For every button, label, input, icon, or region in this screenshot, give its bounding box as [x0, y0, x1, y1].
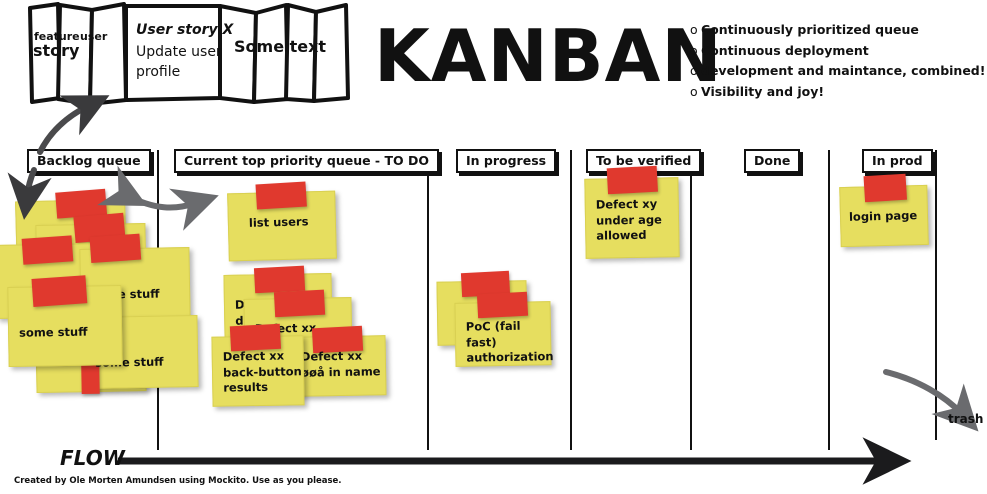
- sticky-note[interactable]: some stuff: [7, 285, 122, 367]
- list-item-label: Continuously prioritized queue: [701, 22, 919, 37]
- bullet-marker-icon: o: [690, 20, 701, 41]
- arrow-backlog-to-stack-icon: [27, 170, 34, 196]
- sticky-note-text: Defect xx øøå in name: [301, 348, 381, 380]
- list-item-label: Continuous deployment: [701, 43, 869, 58]
- sticky-note-text: Defect xy under age allowed: [596, 196, 663, 244]
- column-divider: [427, 150, 429, 450]
- list-item: oVisibility and joy!: [690, 82, 985, 103]
- sticky-note-text: list users: [249, 214, 309, 231]
- sticky-note-text: login page: [849, 208, 918, 225]
- list-item: oContinuous deployment: [690, 41, 985, 62]
- column-header-in-prod[interactable]: In prod: [862, 149, 933, 173]
- page-title: KANBAN: [374, 16, 664, 96]
- sticky-note[interactable]: Defect xx back-button results: [211, 335, 304, 407]
- column-divider: [828, 150, 830, 450]
- tape-icon: [90, 234, 142, 263]
- bullet-marker-icon: o: [690, 61, 701, 82]
- fan-card-update-user-line: Update user: [136, 44, 222, 60]
- tape-icon: [22, 235, 74, 264]
- tape-icon: [255, 182, 306, 210]
- bullet-marker-icon: o: [690, 41, 701, 62]
- list-item: oContinuously prioritized queue: [690, 20, 985, 41]
- sticky-note-text: some stuff: [19, 325, 88, 342]
- arrow-backlog-todo-bidirectional-icon: [126, 195, 196, 208]
- tape-icon: [607, 166, 658, 195]
- column-header-in-progress[interactable]: In progress: [456, 149, 556, 173]
- tape-icon: [477, 292, 528, 319]
- column-header-backlog[interactable]: Backlog queue: [27, 149, 151, 173]
- bullet-marker-icon: o: [690, 82, 701, 103]
- fan-card-some-text-label: Some text: [234, 37, 326, 56]
- tape-icon: [230, 324, 281, 352]
- fan-card-user-label: user: [80, 30, 107, 43]
- sticky-note[interactable]: login page: [839, 185, 929, 247]
- sticky-note[interactable]: Defect xy under age allowed: [584, 177, 679, 259]
- fan-card-user-story-title: User story X: [136, 22, 233, 38]
- column-header-done[interactable]: Done: [744, 149, 800, 173]
- tape-icon: [274, 290, 325, 318]
- tape-icon: [864, 174, 908, 203]
- tape-icon: [31, 275, 87, 307]
- flow-label: FLOW: [60, 446, 125, 470]
- sticky-note[interactable]: list users: [227, 191, 337, 262]
- column-divider: [690, 150, 692, 450]
- user-story-card-fan: feature story user User story X Update u…: [20, 2, 360, 107]
- sticky-note-text: Defect xx back-button results: [223, 348, 303, 396]
- list-item: odevelopment and maintance, combined!: [690, 61, 985, 82]
- list-item-label: Visibility and joy!: [701, 84, 824, 99]
- sticky-note[interactable]: PoC (fail fast) authorization: [454, 301, 551, 367]
- arrow-to-trash-icon: [886, 372, 962, 414]
- arrow-backlog-to-cards-icon: [40, 106, 88, 152]
- column-divider: [935, 150, 937, 440]
- column-divider: [570, 150, 572, 450]
- principles-list: oContinuously prioritized queue oContinu…: [690, 20, 985, 102]
- tape-icon: [254, 266, 305, 294]
- trash-label: trash: [948, 412, 983, 426]
- credit-line: Created by Ole Morten Amundsen using Moc…: [14, 476, 342, 486]
- fan-card-story-label: story: [33, 41, 79, 60]
- fan-card-profile-line: profile: [136, 64, 180, 80]
- column-header-todo[interactable]: Current top priority queue - TO DO: [174, 149, 439, 173]
- list-item-label: development and maintance, combined!: [701, 63, 985, 78]
- sticky-note-text: PoC (fail fast) authorization: [466, 318, 554, 366]
